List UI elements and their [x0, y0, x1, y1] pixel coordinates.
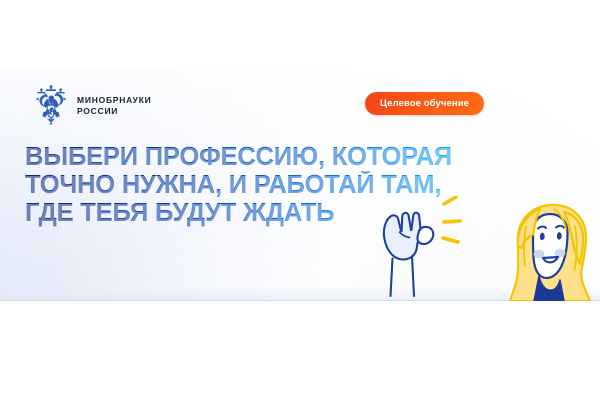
- banner-headline: ВЫБЕРИ ПРОФЕССИЮ, КОТОРАЯ ТОЧНО НУЖНА, И…: [25, 143, 555, 227]
- banner-bottom-fade: [0, 287, 600, 301]
- banner-bottom-border: [0, 300, 600, 301]
- headline-line-1: ВЫБЕРИ ПРОФЕССИЮ, КОТОРАЯ: [25, 143, 555, 171]
- ministry-logo-line-2: РОССИИ: [77, 107, 152, 116]
- russian-double-headed-eagle-emblem-icon: [34, 84, 68, 126]
- headline-line-3: ГДЕ ТЕБЯ БУДУТ ЖДАТЬ: [25, 199, 555, 227]
- status-badge-targeted-training[interactable]: Целевое обучение: [365, 92, 484, 115]
- ministry-logo-text: МИНОБРНАУКИ РОССИИ: [77, 95, 152, 116]
- ministry-logo-line-1: МИНОБРНАУКИ: [77, 96, 152, 105]
- headline-line-2: ТОЧНО НУЖНА, И РАБОТАЙ ТАМ,: [25, 171, 555, 199]
- ministry-logo-lockup[interactable]: МИНОБРНАУКИ РОССИИ: [34, 84, 152, 126]
- page-root: МИНОБРНАУКИ РОССИИ Целевое обучение ВЫБЕ…: [0, 0, 600, 400]
